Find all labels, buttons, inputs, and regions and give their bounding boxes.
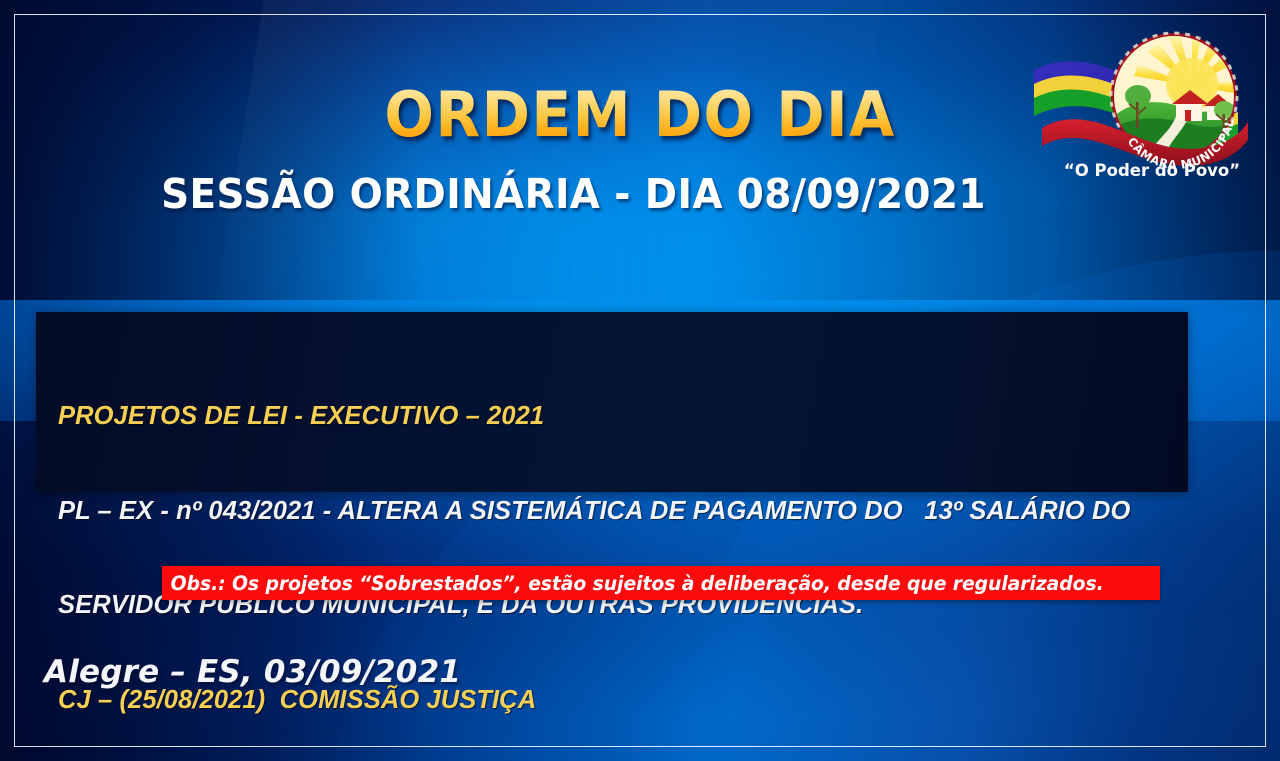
observation-text: Obs.: Os projetos “Sobrestados”, estão s… (162, 572, 1104, 595)
camara-logo: CÂMARA MUNICIPAL DE ALEGRE - ES “O Poder… (1026, 24, 1252, 192)
agenda-body-line-1: PL – EX - nº 043/2021 - ALTERA A SISTEMÁ… (58, 496, 1170, 528)
footer-place-date: Alegre – ES, 03/09/2021 (44, 654, 461, 690)
logo-motto: “O Poder do Povo” (1064, 161, 1240, 180)
slide-root: ORDEM DO DIA SESSÃO ORDINÁRIA - DIA 08/0… (0, 0, 1280, 761)
agenda-content-box: PROJETOS DE LEI - EXECUTIVO – 2021 PL – … (36, 312, 1188, 492)
camara-logo-icon: CÂMARA MUNICIPAL DE ALEGRE - ES “O Poder… (1026, 24, 1252, 192)
agenda-text-block: PROJETOS DE LEI - EXECUTIVO – 2021 PL – … (58, 338, 1170, 761)
observation-banner: Obs.: Os projetos “Sobrestados”, estão s… (162, 566, 1160, 600)
agenda-heading: PROJETOS DE LEI - EXECUTIVO – 2021 (58, 401, 1170, 433)
